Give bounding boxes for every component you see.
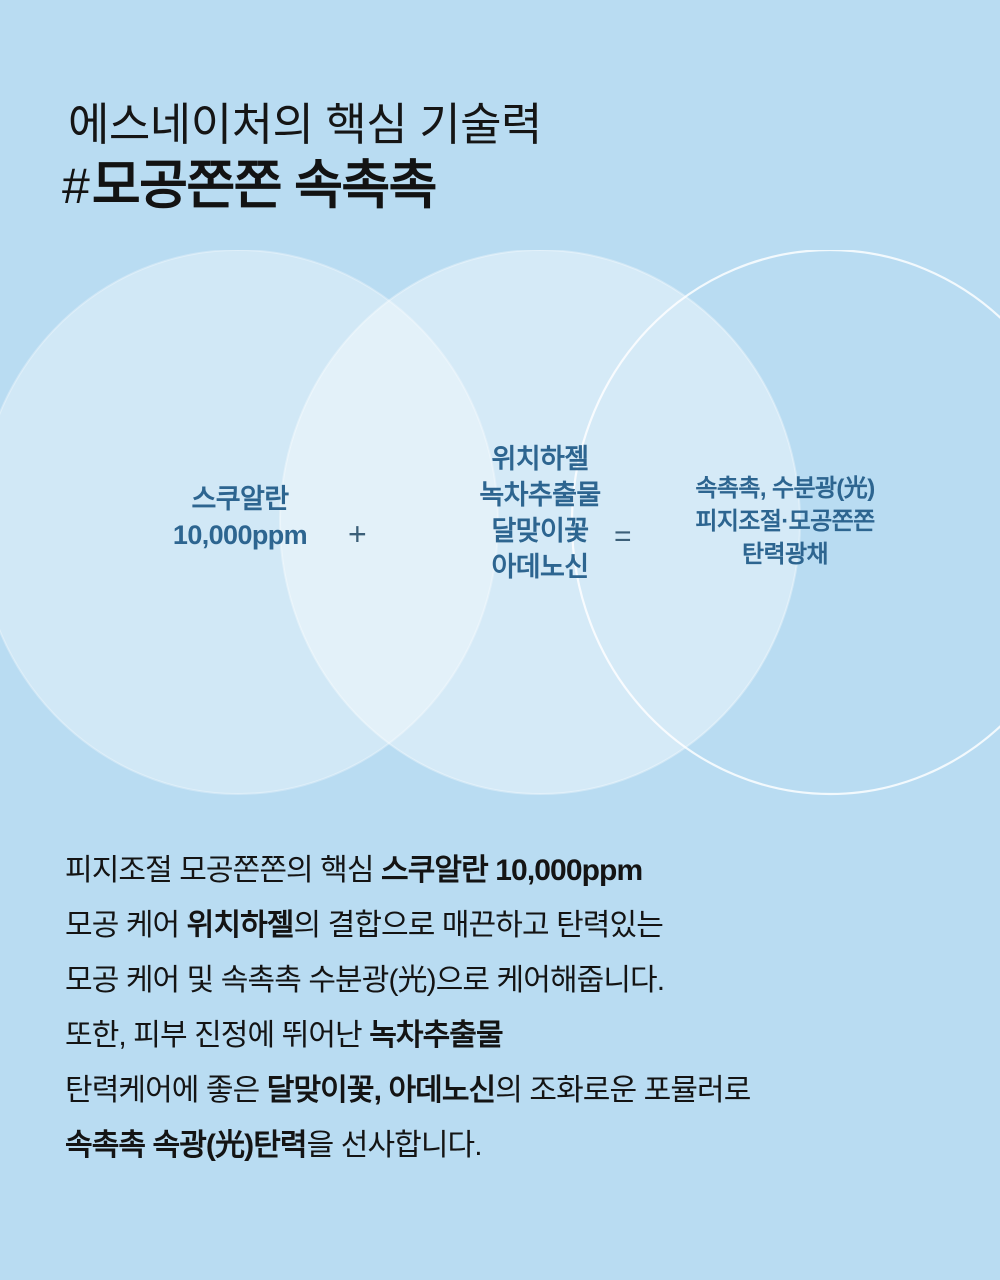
body-line: 피지조절 모공쫀쫀의 핵심 스쿠알란 10,000ppm — [65, 843, 965, 898]
heading-subtitle: 에스네이처의 핵심 기술력 — [68, 98, 942, 151]
venn-labels: 스쿠알란 10,000ppm + 위치하젤 녹차추출물 달맞이꽃 아데노신 = … — [0, 250, 1000, 810]
heading-title: 모공쫀쫀 속촉촉 — [92, 156, 436, 215]
venn-left-line-2: 10,000ppm — [110, 518, 370, 554]
body-text-emphasis: 위치하젤 — [187, 909, 294, 942]
venn-label-right: 속촉촉, 수분광(光) 피지조절·모공쫀쫀 탄력광채 — [640, 472, 930, 571]
body-paragraph: 피지조절 모공쫀쫀의 핵심 스쿠알란 10,000ppm모공 케어 위치하젤의 … — [65, 843, 965, 1173]
body-text-emphasis: 달맞이꽃, 아데노신 — [267, 1074, 495, 1107]
hashtag-symbol: # — [62, 158, 90, 214]
venn-middle-line-3: 달맞이꽃 — [405, 514, 675, 550]
body-text-run: 또한, 피부 진정에 뛰어난 — [65, 1019, 369, 1052]
body-text-emphasis: 속촉촉 속광(光)탄력 — [65, 1129, 307, 1162]
body-text-run: 모공 케어 — [65, 909, 187, 942]
body-line: 탄력케어에 좋은 달맞이꽃, 아데노신의 조화로운 포뮬러로 — [65, 1063, 965, 1118]
heading-title-row: #모공쫀쫀 속촉촉 — [62, 155, 942, 216]
body-text-run: 의 조화로운 포뮬러로 — [495, 1074, 750, 1107]
body-text-run: 의 결합으로 매끈하고 탄력있는 — [293, 909, 662, 942]
body-text-run: 탄력케어에 좋은 — [65, 1074, 267, 1107]
body-text-run: 모공 케어 및 속촉촉 수분광(光)으로 케어해줍니다. — [65, 964, 664, 997]
venn-equals-operator: = — [614, 522, 632, 552]
venn-left-line-1: 스쿠알란 — [110, 482, 370, 518]
body-line: 모공 케어 위치하젤의 결합으로 매끈하고 탄력있는 — [65, 898, 965, 953]
body-text-emphasis: 녹차추출물 — [369, 1019, 503, 1052]
body-line: 또한, 피부 진정에 뛰어난 녹차추출물 — [65, 1008, 965, 1063]
venn-middle-line-2: 녹차추출물 — [405, 478, 675, 514]
venn-middle-line-1: 위치하젤 — [405, 442, 675, 478]
venn-label-left: 스쿠알란 10,000ppm — [110, 482, 370, 554]
venn-middle-line-4: 아데노신 — [405, 550, 675, 586]
body-text-run: 을 선사합니다. — [307, 1129, 482, 1162]
body-line: 속촉촉 속광(光)탄력을 선사합니다. — [65, 1118, 965, 1173]
venn-label-middle: 위치하젤 녹차추출물 달맞이꽃 아데노신 — [405, 442, 675, 586]
venn-right-line-3: 탄력광채 — [640, 538, 930, 571]
venn-right-line-2: 피지조절·모공쫀쫀 — [640, 505, 930, 538]
body-text-emphasis: 스쿠알란 10,000ppm — [381, 854, 642, 887]
venn-right-line-1: 속촉촉, 수분광(光) — [640, 472, 930, 505]
body-line: 모공 케어 및 속촉촉 수분광(光)으로 케어해줍니다. — [65, 953, 965, 1008]
body-text-run: 피지조절 모공쫀쫀의 핵심 — [65, 854, 381, 887]
infographic-page: 에스네이처의 핵심 기술력 #모공쫀쫀 속촉촉 스쿠알란 — [0, 0, 1000, 1280]
venn-plus-operator: + — [348, 518, 367, 550]
heading-block: 에스네이처의 핵심 기술력 #모공쫀쫀 속촉촉 — [62, 98, 942, 217]
